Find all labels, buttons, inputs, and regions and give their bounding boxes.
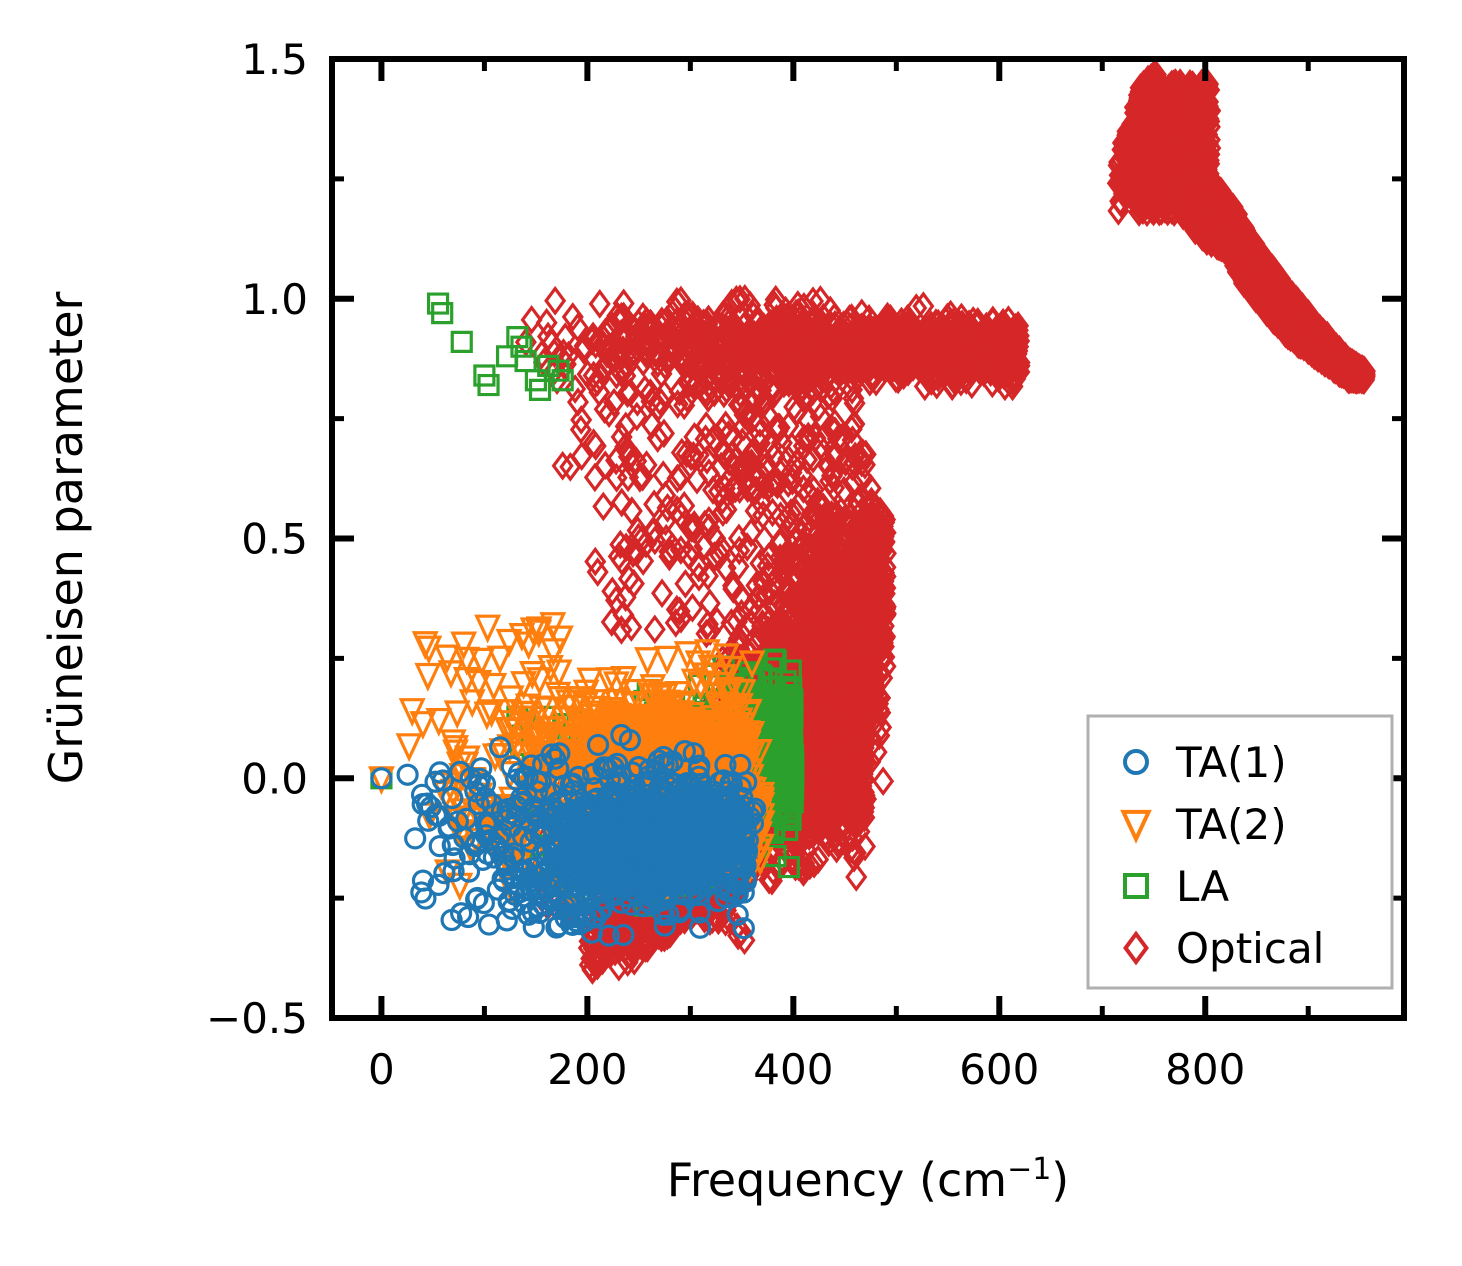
figure-container: 0200400600800−0.50.00.51.01.5 Frequency …	[0, 0, 1462, 1266]
scatter-plot: 0200400600800−0.50.00.51.01.5 Frequency …	[0, 0, 1462, 1266]
